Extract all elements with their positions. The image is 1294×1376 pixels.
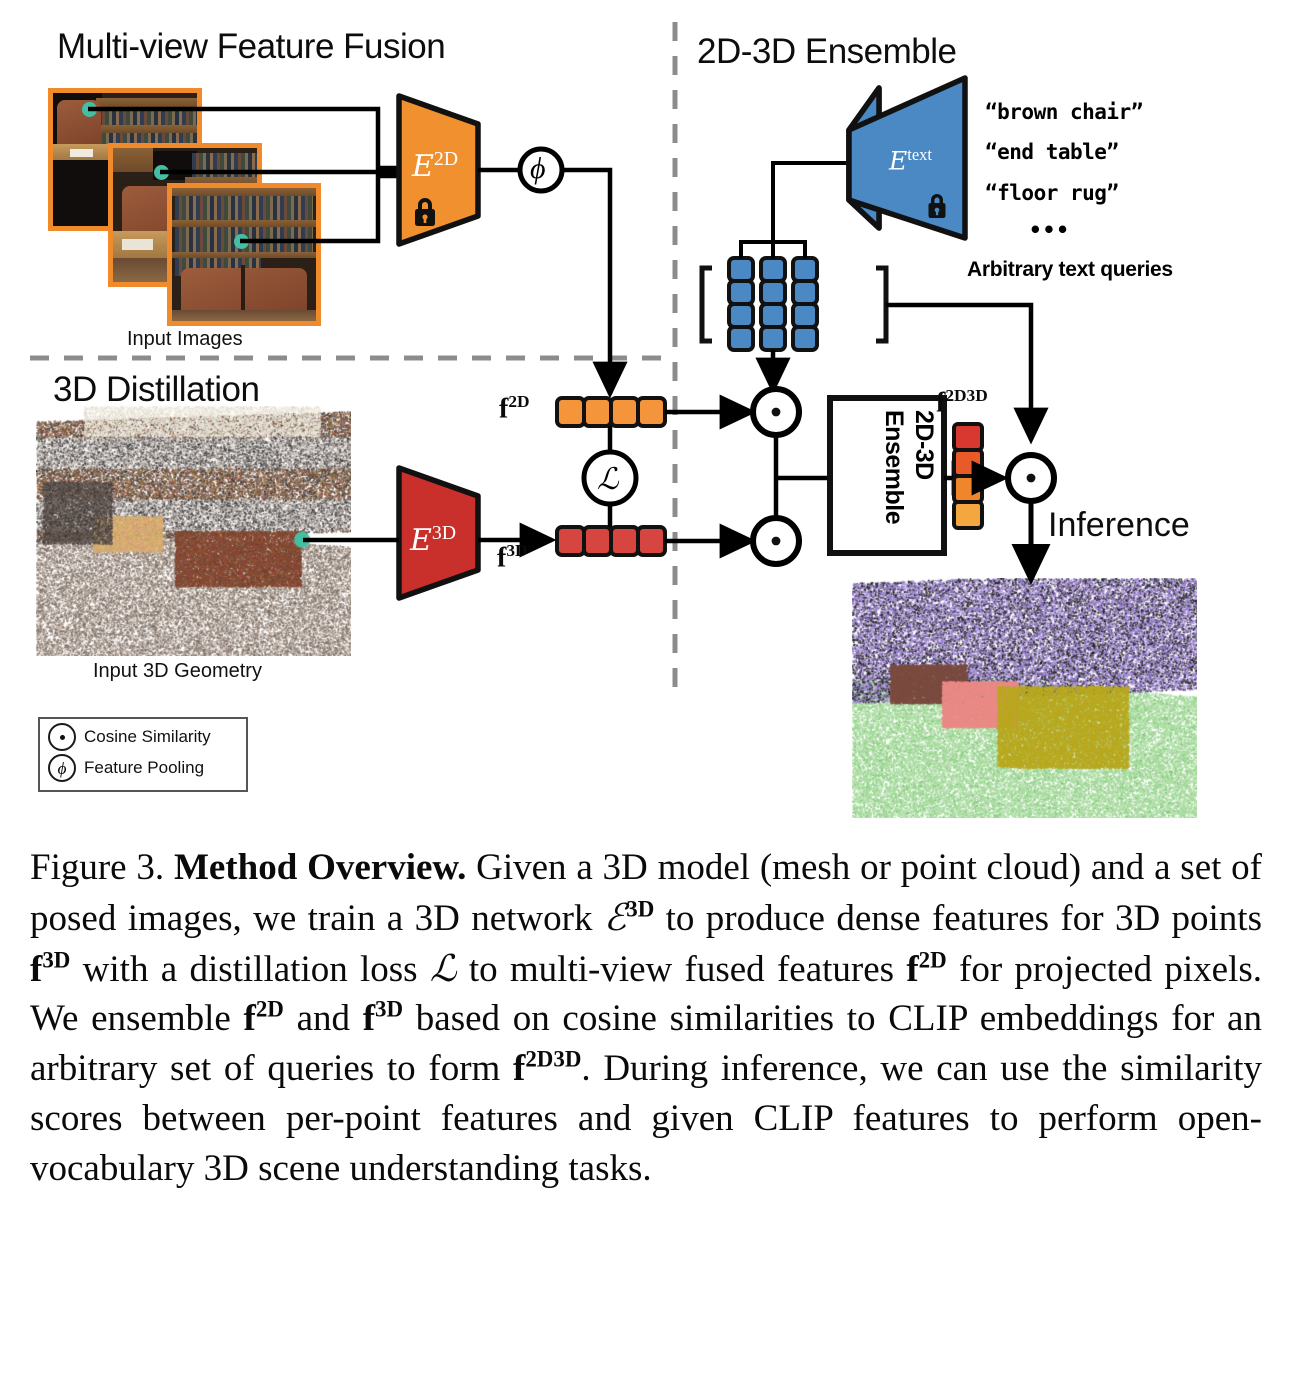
- cosine-similarity-node-inference: [1008, 455, 1054, 501]
- label-f2d3d: f2D3D: [936, 386, 988, 419]
- label-f2d3d-sup: 2D3D: [945, 386, 987, 405]
- label-f3d-sup: 3D: [506, 541, 527, 560]
- caption-bold-title: Method Overview.: [174, 847, 466, 888]
- text-query-ellipsis: •••: [1029, 218, 1070, 242]
- ensemble-box-label: 2D-3D Ensemble: [838, 404, 942, 546]
- feature-pooling-symbol: ϕ: [530, 152, 546, 186]
- f2d3d-feature-blocks: [954, 424, 982, 528]
- cosine-similarity-icon: [48, 723, 76, 751]
- label-f2d-base: f: [499, 393, 508, 424]
- legend-item-feature-pooling: ϕ Feature Pooling: [48, 753, 204, 783]
- f3d-feature-blocks: [557, 527, 665, 555]
- legend-box: Cosine Similarity ϕ Feature Pooling: [38, 717, 248, 792]
- loss-symbol: ℒ: [597, 462, 619, 497]
- clip-embedding-blocks: [729, 258, 817, 350]
- caption-input-images: Input Images: [127, 328, 243, 351]
- section-title-ensemble: 2D-3D Ensemble: [697, 32, 957, 72]
- caption-input-3d-geometry: Input 3D Geometry: [93, 660, 262, 683]
- inference-label: Inference: [1048, 506, 1190, 545]
- cosine-to-ensemble-lines: [776, 435, 830, 518]
- caption-figure-number: Figure 3.: [30, 847, 164, 888]
- legend-item-cosine-similarity: Cosine Similarity: [48, 722, 211, 752]
- cosine-similarity-node-3d: [753, 518, 799, 564]
- feature-pooling-icon: ϕ: [48, 754, 76, 782]
- ensemble-box-line-2: Ensemble: [879, 410, 908, 524]
- diagram-vectors: [0, 0, 1294, 830]
- keypoint-to-encoder-lines: [88, 109, 398, 241]
- section-title-multi-view: Multi-view Feature Fusion: [57, 27, 445, 67]
- cosine-similarity-node-2d: [753, 389, 799, 435]
- method-overview-figure: Multi-view Feature Fusion 2D-3D Ensemble…: [0, 0, 1294, 830]
- section-title-distillation: 3D Distillation: [53, 370, 259, 410]
- legend-label-feature-pooling: Feature Pooling: [84, 758, 204, 778]
- text-encoder-to-embeddings-lines: [741, 163, 849, 258]
- figure-caption: Figure 3. Method Overview. Given a 3D mo…: [30, 843, 1262, 1193]
- text-query-1: “end table”: [985, 140, 1119, 164]
- text-queries-caption: Arbitrary text queries: [967, 258, 1173, 282]
- label-f3d: f3D: [497, 541, 528, 574]
- feature-pooling-glyph: ϕ: [58, 760, 67, 777]
- legend-label-cosine-similarity: Cosine Similarity: [84, 727, 211, 747]
- label-f2d-sup: 2D: [508, 392, 529, 411]
- ensemble-box-line-1: 2D-3D: [909, 410, 938, 480]
- label-f2d: f2D: [499, 392, 530, 425]
- text-query-2: “floor rug”: [985, 181, 1119, 205]
- f2d-feature-blocks: [557, 398, 665, 426]
- image-encoder-trapezoid: [399, 96, 478, 244]
- caption-body: Given a 3D model (mesh or point cloud) a…: [30, 847, 1262, 1189]
- point-encoder-trapezoid: [399, 468, 478, 598]
- label-f3d-base: f: [497, 542, 506, 573]
- text-query-0: “brown chair”: [985, 100, 1143, 124]
